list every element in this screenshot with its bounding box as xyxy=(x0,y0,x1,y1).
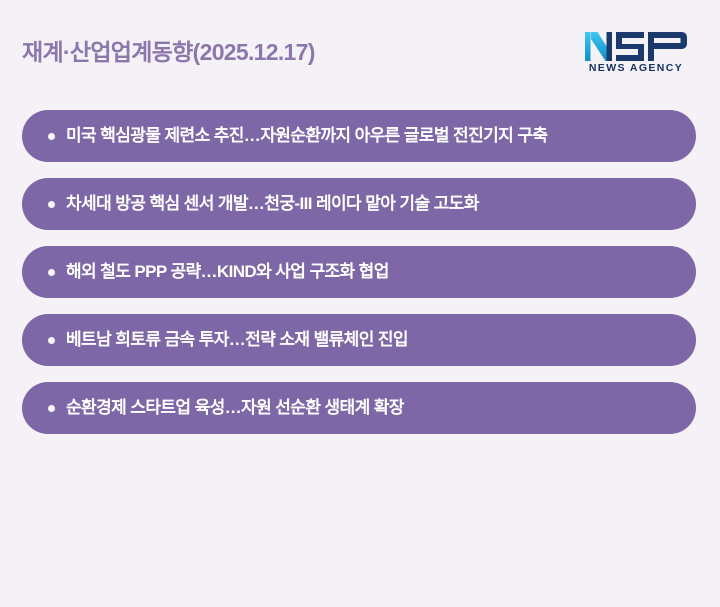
news-headline-card: 재계·산업업계동향(2025.12.17) NEWS AGENCY xyxy=(0,0,720,607)
nsp-logo: NEWS AGENCY xyxy=(584,31,688,74)
page-title: 재계·산업업계동향(2025.12.17) xyxy=(22,40,315,65)
headline-item[interactable]: 베트남 희토류 금속 투자…전략 소재 밸류체인 진입 xyxy=(22,314,696,366)
headline-item[interactable]: 순환경제 스타트업 육성…자원 선순환 생태계 확장 xyxy=(22,382,696,434)
headline-text: 미국 핵심광물 제련소 추진…자원순환까지 아우른 글로벌 전진기지 구축 xyxy=(66,126,547,146)
headline-item[interactable]: 해외 철도 PPP 공략…KIND와 사업 구조화 협업 xyxy=(22,246,696,298)
headline-item[interactable]: 차세대 방공 핵심 센서 개발…천궁-III 레이다 맡아 기술 고도화 xyxy=(22,178,696,230)
headline-text: 순환경제 스타트업 육성…자원 선순환 생태계 확장 xyxy=(66,398,404,418)
bullet-icon xyxy=(48,405,55,412)
bullet-icon xyxy=(48,201,55,208)
headline-text: 해외 철도 PPP 공략…KIND와 사업 구조화 협업 xyxy=(66,262,389,282)
headline-text: 베트남 희토류 금속 투자…전략 소재 밸류체인 진입 xyxy=(66,330,408,350)
headline-item[interactable]: 미국 핵심광물 제련소 추진…자원순환까지 아우른 글로벌 전진기지 구축 xyxy=(22,110,696,162)
headline-text: 차세대 방공 핵심 센서 개발…천궁-III 레이다 맡아 기술 고도화 xyxy=(66,194,479,214)
bullet-icon xyxy=(48,269,55,276)
bullet-icon xyxy=(48,133,55,140)
logo-tagline: NEWS AGENCY xyxy=(589,63,683,74)
headline-list: 미국 핵심광물 제련소 추진…자원순환까지 아우른 글로벌 전진기지 구축 차세… xyxy=(22,110,696,434)
card-header: 재계·산업업계동향(2025.12.17) NEWS AGENCY xyxy=(0,0,720,100)
nsp-wordmark-icon xyxy=(584,31,688,62)
bullet-icon xyxy=(48,337,55,344)
